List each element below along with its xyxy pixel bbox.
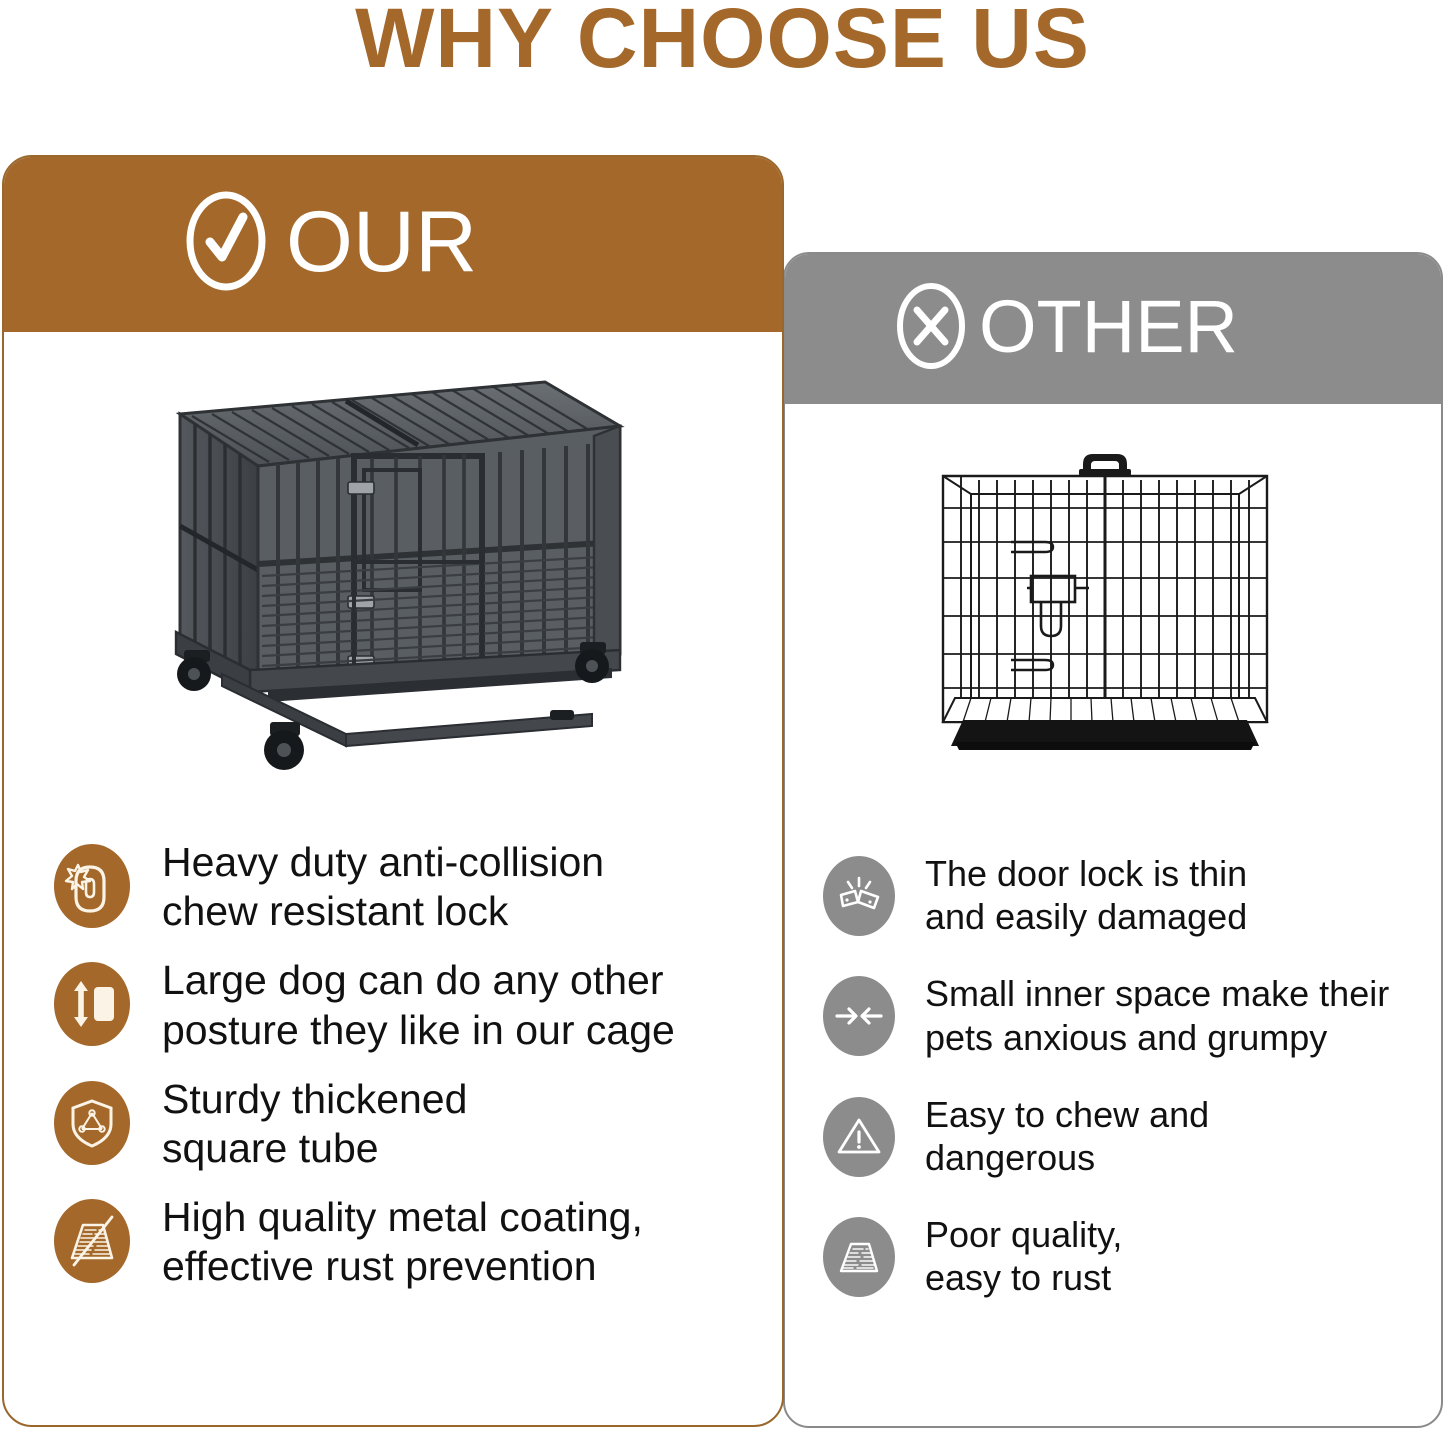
x-circle-icon [893, 278, 969, 379]
other-banner-label: OTHER [979, 290, 1238, 364]
list-item-label: Poor quality, easy to rust [925, 1213, 1122, 1299]
compress-arrows-icon [823, 976, 895, 1056]
page-title: WHY CHOOSE US [0, 0, 1445, 82]
our-product-image [150, 374, 650, 784]
other-product-image [915, 450, 1295, 760]
list-item-label: High quality metal coating, effective ru… [162, 1193, 643, 1291]
comparison-card-our: OUR [2, 155, 784, 1427]
check-circle-icon [180, 185, 272, 302]
our-banner-label: OUR [286, 199, 477, 285]
list-item[interactable]: The door lock is thin and easily damaged [823, 852, 1423, 938]
list-item[interactable]: Heavy duty anti-collision chew resistant… [54, 840, 754, 936]
rust-surface-icon [823, 1217, 895, 1297]
list-item-label: The door lock is thin and easily damaged [925, 852, 1247, 938]
list-item[interactable]: High quality metal coating, effective ru… [54, 1195, 754, 1291]
list-item-label: Easy to chew and dangerous [925, 1093, 1209, 1179]
other-feature-list: The door lock is thin and easily damaged… [823, 852, 1423, 1334]
list-item[interactable]: Poor quality, easy to rust [823, 1213, 1423, 1299]
broken-lock-icon [823, 856, 895, 936]
list-item-label: Heavy duty anti-collision chew resistant… [162, 838, 604, 936]
other-banner: OTHER [783, 252, 1443, 404]
list-item[interactable]: Sturdy thickened square tube [54, 1077, 754, 1173]
list-item-label: Small inner space make their pets anxiou… [925, 972, 1389, 1058]
comparison-card-other: OTHER [783, 252, 1443, 1428]
list-item-label: Sturdy thickened square tube [162, 1075, 467, 1173]
warning-triangle-icon [823, 1097, 895, 1177]
our-banner: OUR [2, 155, 784, 332]
impact-lock-icon [54, 844, 130, 928]
no-rust-coating-icon [54, 1199, 130, 1283]
shield-structure-icon [54, 1081, 130, 1165]
list-item-label: Large dog can do any other posture they … [162, 956, 675, 1054]
list-item[interactable]: Large dog can do any other posture they … [54, 958, 754, 1054]
list-item[interactable]: Easy to chew and dangerous [823, 1093, 1423, 1179]
vertical-space-arrow-icon [54, 962, 130, 1046]
list-item[interactable]: Small inner space make their pets anxiou… [823, 972, 1423, 1058]
our-feature-list: Heavy duty anti-collision chew resistant… [54, 840, 754, 1314]
